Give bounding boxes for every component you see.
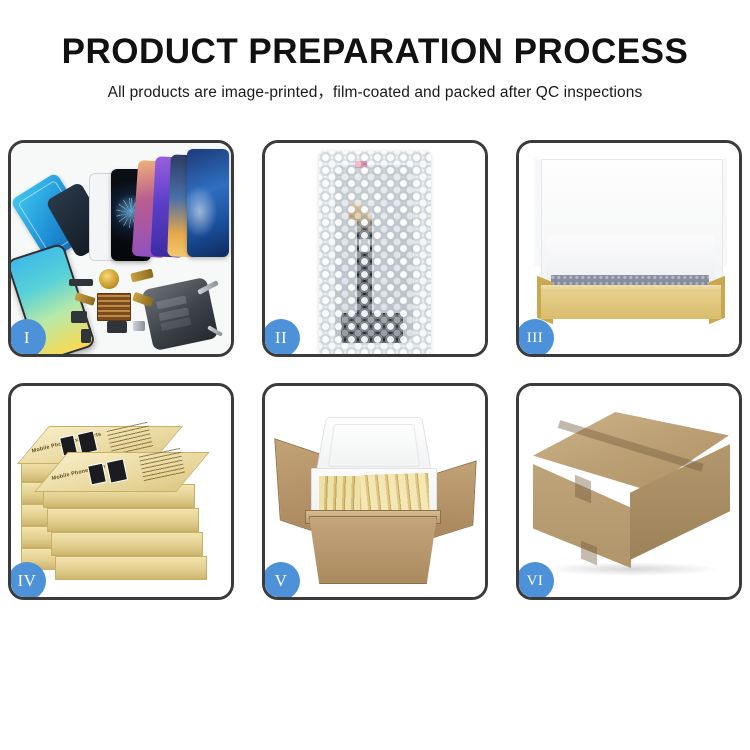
- box-front-panel: [541, 291, 721, 319]
- step-numeral-5: V: [275, 571, 288, 591]
- step-1-image: I: [11, 143, 231, 354]
- part-screw-tray: [97, 293, 131, 321]
- page-subtitle: All products are image-printed，film-coat…: [0, 71, 750, 102]
- step-numeral-1: I: [24, 328, 30, 348]
- part-speaker: [107, 321, 127, 333]
- process-step-panel-1[interactable]: I: [8, 140, 234, 357]
- part-sim-tray: [81, 329, 91, 343]
- process-step-panel-6[interactable]: VI: [516, 383, 742, 600]
- step-badge-5: V: [265, 562, 300, 597]
- product-preparation-process-page: PRODUCT PREPARATION PROCESS All products…: [0, 0, 750, 750]
- step-numeral-4: IV: [18, 571, 37, 591]
- bubble-wrap-package: [319, 151, 431, 354]
- stacked-box-front-4: [55, 556, 207, 580]
- part-metal-bracket: [133, 321, 145, 331]
- step-badge-6: VI: [519, 562, 554, 597]
- process-step-panel-4[interactable]: Mobile Phone Spare Parts Mobile Phone Sp…: [8, 383, 234, 600]
- carton-shadow: [543, 562, 719, 576]
- step-6-image: VI: [519, 386, 739, 597]
- carton-body: [309, 516, 437, 584]
- part-camera-module: [71, 311, 87, 323]
- stacked-box-front-3: [51, 532, 203, 556]
- stacked-box-front-2: [47, 508, 199, 532]
- step-badge-2: II: [265, 319, 300, 354]
- part-vibration-motor: [99, 269, 119, 289]
- step-badge-4: IV: [11, 562, 46, 597]
- step-badge-1: I: [11, 319, 46, 354]
- blue-wave-phone: [187, 149, 229, 257]
- process-step-panel-5[interactable]: V: [262, 383, 488, 600]
- step-numeral-6: VI: [527, 573, 544, 590]
- step-4-image: Mobile Phone Spare Parts Mobile Phone Sp…: [11, 386, 231, 597]
- step-3-image: III: [519, 143, 739, 354]
- step-numeral-3: III: [527, 330, 544, 347]
- step-badge-3: III: [519, 319, 554, 354]
- bubble-texture-overlay: [319, 151, 431, 354]
- process-step-panel-3[interactable]: III: [516, 140, 742, 357]
- header: PRODUCT PREPARATION PROCESS All products…: [0, 0, 750, 128]
- process-steps-grid: I II: [8, 140, 742, 600]
- step-5-image: V: [265, 386, 485, 597]
- part-flex-cable-top: [130, 268, 154, 282]
- step-2-image: II: [265, 143, 485, 354]
- page-title: PRODUCT PREPARATION PROCESS: [0, 0, 750, 71]
- step-numeral-2: II: [275, 328, 287, 348]
- process-step-panel-2[interactable]: II: [262, 140, 488, 357]
- part-earpiece-mesh: [69, 279, 93, 286]
- gold-boxes-row-2: [360, 473, 429, 515]
